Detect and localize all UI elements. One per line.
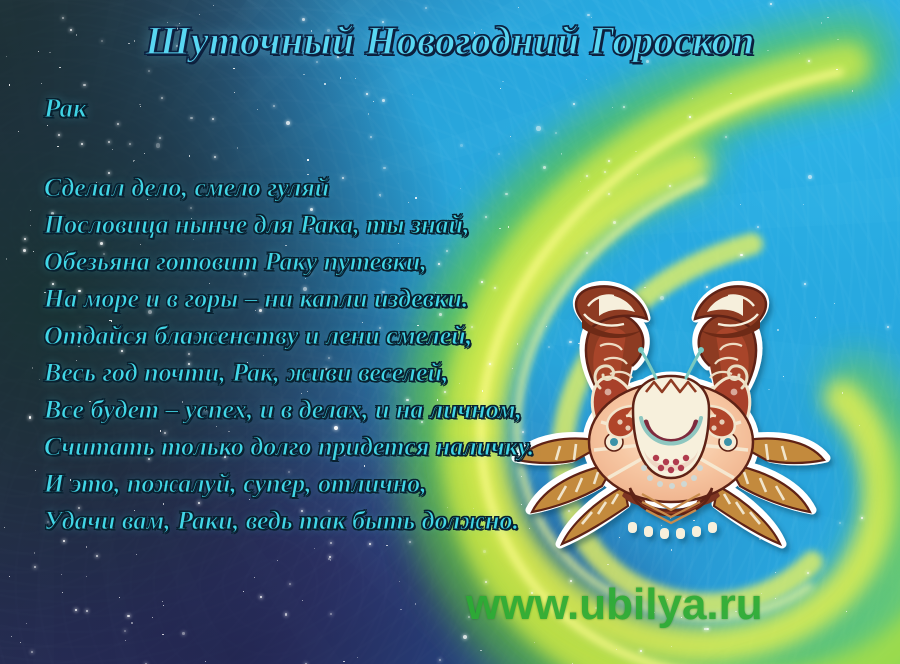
poem-line: Пословица нынче для Рака, ты знай, — [44, 206, 534, 243]
star — [254, 577, 255, 578]
star — [382, 99, 385, 102]
star — [518, 7, 519, 8]
star — [783, 376, 784, 377]
star — [34, 566, 36, 568]
star — [400, 609, 401, 610]
star — [302, 600, 303, 601]
star — [480, 650, 481, 651]
page-title: Шуточный Новогодний Гороскоп — [0, 17, 900, 64]
star — [233, 68, 234, 69]
star — [803, 204, 804, 205]
star — [412, 94, 413, 95]
star — [35, 470, 36, 471]
star — [815, 317, 816, 318]
star — [607, 564, 608, 565]
star — [534, 642, 535, 643]
star — [162, 634, 163, 635]
star — [124, 630, 126, 632]
star — [586, 524, 588, 526]
star — [58, 134, 60, 136]
star — [329, 556, 331, 558]
star — [415, 603, 416, 604]
star — [205, 661, 206, 662]
star — [285, 613, 288, 616]
star — [740, 204, 741, 205]
star — [616, 649, 617, 650]
star — [852, 90, 853, 91]
star — [9, 576, 10, 577]
star — [144, 153, 145, 154]
star — [277, 560, 278, 561]
star — [568, 510, 570, 512]
star — [357, 657, 358, 658]
poem-line: Все будет – успех, и в делах, и на лично… — [44, 391, 534, 428]
star — [555, 132, 557, 134]
star — [127, 615, 130, 618]
star — [399, 581, 400, 582]
star — [706, 286, 708, 288]
star — [730, 93, 731, 94]
poem-line: Отдайся блаженству и лени смелей, — [44, 317, 534, 354]
star — [119, 597, 120, 598]
star — [561, 153, 562, 154]
star — [330, 613, 332, 615]
horoscope-card: Шуточный Новогодний Гороскоп Рак Сделал … — [0, 0, 900, 664]
star — [510, 136, 511, 137]
star — [257, 109, 258, 110]
star — [807, 572, 809, 574]
star — [861, 517, 863, 519]
star — [586, 252, 588, 254]
star — [561, 154, 562, 155]
star — [32, 367, 33, 368]
star — [586, 175, 588, 177]
star — [599, 417, 600, 418]
star — [108, 141, 110, 143]
star — [212, 118, 214, 120]
star — [834, 303, 835, 304]
poem-line: Обезьяна готовит Раку путевки, — [44, 243, 534, 280]
star — [159, 137, 161, 139]
star — [644, 287, 645, 288]
star — [591, 523, 593, 525]
star — [136, 554, 137, 555]
star — [619, 537, 620, 538]
star — [425, 7, 427, 9]
star — [725, 136, 727, 138]
star — [608, 160, 610, 162]
star — [836, 69, 837, 70]
zodiac-sign-label: Рак — [44, 93, 87, 124]
star — [569, 341, 572, 344]
star — [693, 520, 694, 521]
star — [182, 632, 185, 635]
star — [586, 79, 587, 80]
star — [199, 14, 200, 15]
star — [770, 3, 772, 5]
star — [649, 324, 650, 325]
star — [409, 541, 411, 543]
star — [41, 83, 42, 84]
star — [214, 156, 216, 158]
star — [661, 525, 662, 526]
star — [31, 651, 33, 653]
star — [314, 548, 315, 549]
star — [9, 84, 10, 85]
star — [6, 258, 7, 259]
star — [842, 392, 843, 393]
poem-line: На море и в горы – ни капли издевки. — [44, 280, 534, 317]
star — [463, 635, 467, 639]
star — [671, 432, 672, 433]
star — [39, 379, 40, 380]
star — [29, 416, 32, 419]
poem-line: Сделал дело, смело гуляй — [44, 169, 534, 206]
star — [483, 550, 486, 553]
star — [386, 545, 387, 546]
star — [303, 74, 304, 75]
horoscope-poem: Сделал дело, смело гуляйПословица нынче … — [44, 169, 534, 539]
star — [30, 225, 31, 226]
star — [133, 161, 134, 162]
star — [30, 210, 31, 211]
star — [660, 296, 664, 300]
star — [161, 97, 163, 99]
star — [460, 144, 463, 147]
star — [83, 84, 86, 87]
star — [18, 131, 19, 132]
star — [670, 518, 671, 519]
star — [574, 533, 576, 535]
star — [759, 538, 760, 539]
star — [4, 527, 5, 528]
star — [696, 406, 697, 407]
star — [148, 70, 150, 72]
star — [711, 313, 712, 314]
star — [669, 185, 671, 187]
star — [609, 496, 610, 497]
star — [859, 425, 860, 426]
star — [131, 622, 132, 623]
star — [548, 346, 550, 348]
star — [273, 105, 275, 107]
star — [777, 329, 778, 330]
star — [234, 92, 235, 93]
star — [671, 646, 672, 647]
star — [370, 136, 372, 138]
star — [536, 126, 540, 130]
star — [61, 574, 62, 575]
star — [640, 650, 642, 652]
star — [328, 558, 329, 559]
star — [608, 193, 610, 195]
star — [369, 543, 371, 545]
star — [343, 661, 344, 662]
poem-line: Весь год почти, Рак, живи веселей, — [44, 354, 534, 391]
star — [57, 146, 58, 147]
star — [162, 601, 163, 602]
star — [546, 326, 547, 327]
star — [757, 226, 759, 228]
star — [637, 174, 638, 175]
star — [701, 328, 703, 330]
poem-line: Считать только долго придется наличку. — [44, 428, 534, 465]
star — [96, 555, 98, 557]
star — [373, 101, 374, 102]
star — [129, 143, 131, 145]
star — [694, 157, 695, 158]
poem-line: Удачи вам, Раки, ведь так быть должно. — [44, 502, 534, 539]
star — [260, 596, 262, 598]
star — [692, 397, 694, 399]
star — [163, 605, 164, 606]
star — [133, 160, 134, 161]
star — [671, 549, 672, 550]
star — [502, 81, 503, 82]
star — [635, 151, 636, 152]
star — [330, 542, 332, 544]
star — [324, 83, 325, 84]
cancer-crab-icon — [496, 272, 846, 552]
star — [623, 106, 625, 108]
star — [330, 559, 331, 560]
star — [573, 103, 576, 106]
star — [139, 104, 140, 105]
star — [63, 540, 65, 542]
star — [24, 238, 26, 240]
star — [75, 609, 77, 611]
star — [366, 93, 368, 95]
star — [775, 598, 776, 599]
star — [887, 326, 889, 328]
star — [839, 522, 841, 524]
star — [81, 143, 83, 145]
poem-line: И это, пожалуй, супер, отлично, — [44, 465, 534, 502]
star — [613, 221, 616, 224]
star — [846, 611, 847, 612]
star — [286, 121, 290, 125]
star — [808, 175, 812, 179]
star — [597, 405, 599, 407]
star — [692, 98, 693, 99]
star — [307, 159, 308, 160]
star — [23, 249, 26, 252]
star — [117, 123, 119, 125]
star — [243, 591, 244, 592]
star — [237, 147, 238, 148]
star — [740, 254, 743, 257]
star — [340, 77, 341, 78]
star — [604, 171, 606, 173]
star — [47, 125, 48, 126]
site-watermark: www.ubilya.ru — [466, 580, 763, 630]
star — [62, 592, 63, 593]
star — [368, 113, 369, 114]
star — [543, 166, 546, 169]
star — [588, 190, 589, 191]
star — [112, 149, 113, 150]
star — [190, 117, 193, 120]
star — [156, 143, 160, 147]
star — [768, 389, 769, 390]
star — [498, 153, 500, 155]
star — [689, 116, 691, 118]
star — [213, 5, 214, 6]
star — [804, 283, 806, 285]
star — [775, 572, 776, 573]
star — [33, 251, 34, 252]
star — [614, 347, 616, 349]
star — [580, 181, 581, 182]
star — [86, 610, 88, 612]
star — [289, 583, 291, 585]
star — [189, 155, 190, 156]
star — [86, 546, 87, 547]
star — [585, 468, 586, 469]
star — [11, 636, 12, 637]
star — [439, 659, 441, 661]
star — [125, 640, 126, 641]
star — [612, 107, 613, 108]
star — [500, 88, 501, 89]
star — [86, 576, 87, 577]
star — [20, 642, 21, 643]
star — [152, 617, 153, 618]
star — [699, 398, 703, 402]
star — [26, 623, 27, 624]
star — [34, 552, 35, 553]
star — [140, 106, 141, 107]
star — [355, 78, 356, 79]
star — [578, 343, 579, 344]
star — [59, 67, 60, 68]
